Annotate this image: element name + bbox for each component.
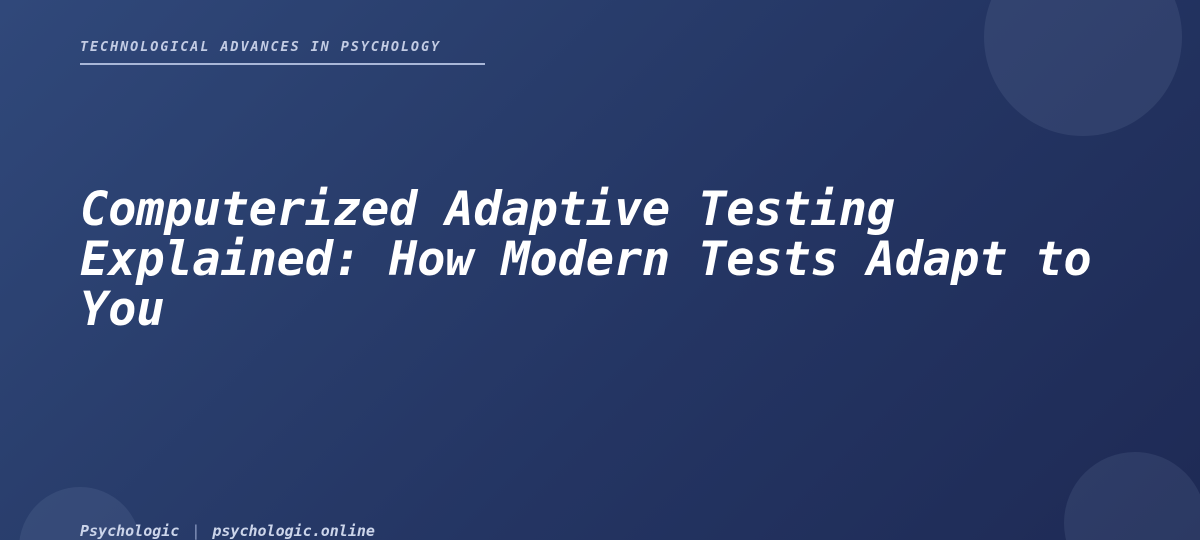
kicker-label: TECHNOLOGICAL ADVANCES IN PSYCHOLOGY [80, 38, 485, 56]
brand-name: Psychologic [80, 521, 179, 540]
decorative-circle-top-right [984, 0, 1182, 136]
kicker-underline-rule [80, 63, 485, 65]
page-title: Computerized Adaptive Testing Explained:… [80, 185, 1140, 335]
site-url: psychologic.online [212, 521, 375, 540]
decorative-circle-bottom-right [1064, 452, 1200, 540]
footer: Psychologic | psychologic.online [80, 521, 375, 540]
article-banner: TECHNOLOGICAL ADVANCES IN PSYCHOLOGY Com… [0, 0, 1200, 540]
footer-separator: | [191, 521, 200, 540]
kicker: TECHNOLOGICAL ADVANCES IN PSYCHOLOGY [80, 38, 485, 65]
